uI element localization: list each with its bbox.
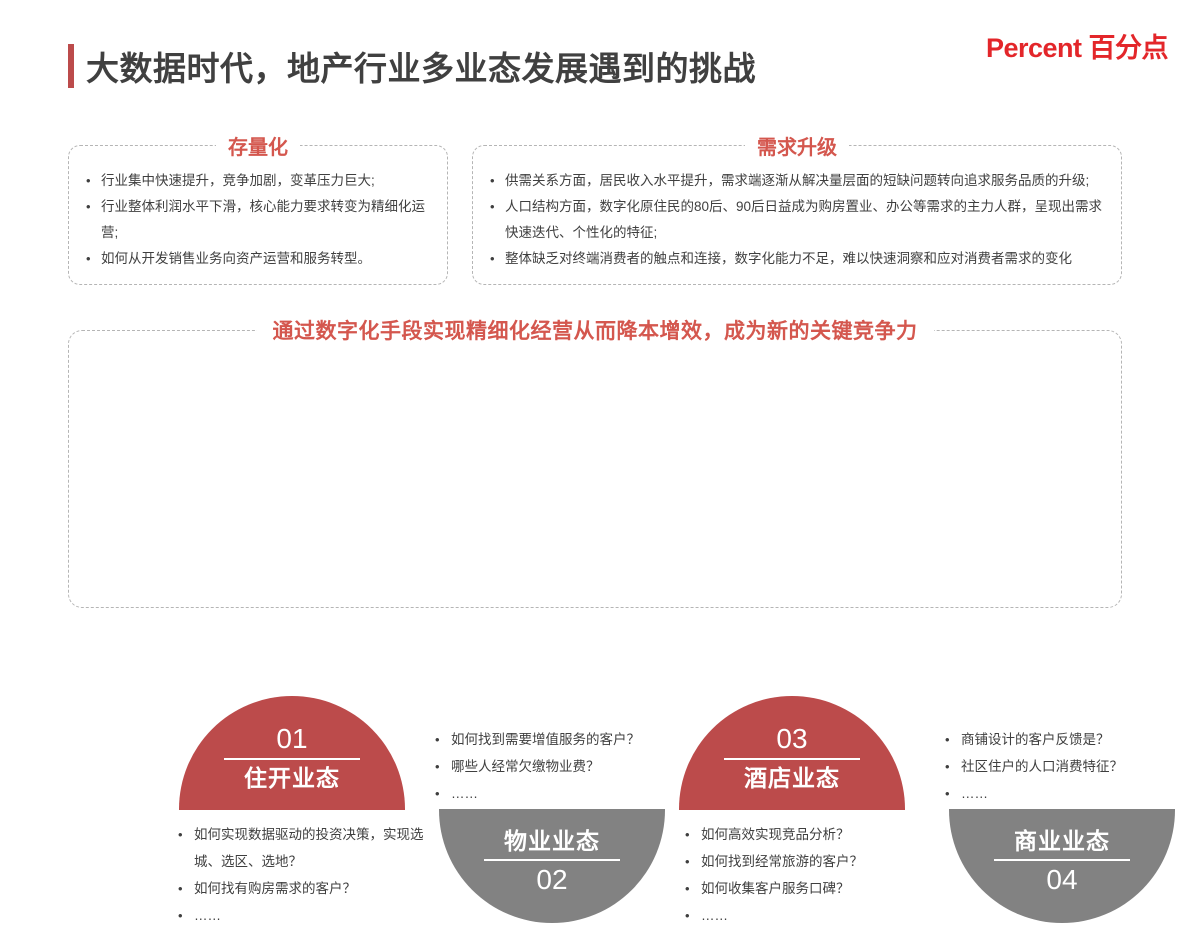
segment-03-questions: 如何高效实现竞品分析？ 如何找到经常旅游的客户？ 如何收集客户服务口碑？ …… — [681, 821, 931, 929]
segment-01-divider — [224, 758, 360, 760]
segment-02-label: 物业业态 — [504, 826, 600, 856]
card-inventory: 存量化 行业集中快速提升，竞争加剧，变革压力巨大; 行业整体利润水平下滑，核心能… — [68, 145, 448, 285]
card-inventory-title: 存量化 — [69, 131, 447, 160]
segment-04-bullets: 商铺设计的客户反馈是？ 社区住户的人口消费特征？ …… — [941, 726, 1190, 807]
segment-01-label: 住开业态 — [244, 763, 340, 793]
list-item: …… — [174, 902, 424, 929]
segment-03-number: 03 — [776, 723, 807, 755]
list-item: 如何找有购房需求的客户？ — [174, 875, 424, 902]
list-item: …… — [941, 780, 1190, 807]
card-inventory-body: 行业集中快速提升，竞争加剧，变革压力巨大; 行业整体利润水平下滑，核心能力要求转… — [69, 146, 447, 272]
list-item: 整体缺乏对终端消费者的触点和连接，数字化能力不足，难以快速洞察和应对消费者需求的… — [487, 246, 1107, 272]
segment-03-label: 酒店业态 — [744, 763, 840, 793]
segment-02-number: 02 — [536, 864, 567, 896]
list-item: 如何高效实现竞品分析？ — [681, 821, 931, 848]
segment-02-questions: 如何找到需要增值服务的客户？ 哪些人经常欠缴物业费？ …… — [431, 726, 681, 807]
panel-title: 通过数字化手段实现精细化经营从而降本增效，成为新的关键竞争力 — [69, 315, 1121, 345]
segment-04-label: 商业业态 — [1014, 826, 1110, 856]
list-item: …… — [431, 780, 681, 807]
list-item: 商铺设计的客户反馈是？ — [941, 726, 1190, 753]
list-item: 供需关系方面，居民收入水平提升，需求端逐渐从解决量层面的短缺问题转向追求服务品质… — [487, 168, 1107, 194]
list-item: 如何实现数据驱动的投资决策，实现选城、选区、选地？ — [174, 821, 424, 875]
segment-04-divider — [994, 859, 1130, 861]
segment-02-divider — [484, 859, 620, 861]
title-accent-bar — [68, 44, 74, 88]
card-inventory-bullets: 行业集中快速提升，竞争加剧，变革压力巨大; 行业整体利润水平下滑，核心能力要求转… — [83, 168, 433, 272]
segment-03-bullets: 如何高效实现竞品分析？ 如何找到经常旅游的客户？ 如何收集客户服务口碑？ …… — [681, 821, 931, 929]
panel-title-text: 通过数字化手段实现精细化经营从而降本增效，成为新的关键竞争力 — [257, 320, 934, 343]
segment-01-number: 01 — [276, 723, 307, 755]
segment-03-hotel[interactable]: 03 酒店业态 — [679, 696, 905, 810]
brand-logo: Percent 百分点 — [986, 26, 1168, 65]
segment-03-divider — [724, 758, 860, 760]
list-item: 人口结构方面，数字化原住民的80后、90后日益成为购房置业、办公等需求的主力人群… — [487, 194, 1107, 246]
list-item: 如何收集客户服务口碑？ — [681, 875, 931, 902]
segment-01-bullets: 如何实现数据驱动的投资决策，实现选城、选区、选地？ 如何找有购房需求的客户？ …… — [174, 821, 424, 929]
list-item: 社区住户的人口消费特征？ — [941, 753, 1190, 780]
panel-digital-operations: 通过数字化手段实现精细化经营从而降本增效，成为新的关键竞争力 01 住开业态 物… — [68, 330, 1122, 608]
list-item: 哪些人经常欠缴物业费？ — [431, 753, 681, 780]
segment-04-commercial[interactable]: 商业业态 04 — [949, 809, 1175, 923]
segment-01-questions: 如何实现数据驱动的投资决策，实现选城、选区、选地？ 如何找有购房需求的客户？ …… — [174, 821, 424, 929]
list-item: 行业整体利润水平下滑，核心能力要求转变为精细化运营; — [83, 194, 433, 246]
segment-02-property[interactable]: 物业业态 02 — [439, 809, 665, 923]
card-demand-upgrade-title: 需求升级 — [473, 131, 1121, 160]
card-demand-upgrade-body: 供需关系方面，居民收入水平提升，需求端逐渐从解决量层面的短缺问题转向追求服务品质… — [473, 146, 1121, 272]
card-inventory-title-text: 存量化 — [216, 137, 300, 159]
segment-04-questions: 商铺设计的客户反馈是？ 社区住户的人口消费特征？ …… — [941, 726, 1190, 807]
card-demand-upgrade-title-text: 需求升级 — [745, 137, 849, 159]
list-item: 如何找到需要增值服务的客户？ — [431, 726, 681, 753]
list-item: 如何找到经常旅游的客户？ — [681, 848, 931, 875]
card-demand-upgrade: 需求升级 供需关系方面，居民收入水平提升，需求端逐渐从解决量层面的短缺问题转向追… — [472, 145, 1122, 285]
list-item: …… — [681, 902, 931, 929]
list-item: 行业集中快速提升，竞争加剧，变革压力巨大; — [83, 168, 433, 194]
segment-02-bullets: 如何找到需要增值服务的客户？ 哪些人经常欠缴物业费？ …… — [431, 726, 681, 807]
card-demand-upgrade-bullets: 供需关系方面，居民收入水平提升，需求端逐渐从解决量层面的短缺问题转向追求服务品质… — [487, 168, 1107, 272]
page-title-text: 大数据时代，地产行业多业态发展遇到的挑战 — [86, 42, 756, 90]
segment-04-number: 04 — [1046, 864, 1077, 896]
page-title: 大数据时代，地产行业多业态发展遇到的挑战 — [68, 42, 756, 90]
list-item: 如何从开发销售业务向资产运营和服务转型。 — [83, 246, 433, 272]
segment-01-residential[interactable]: 01 住开业态 — [179, 696, 405, 810]
